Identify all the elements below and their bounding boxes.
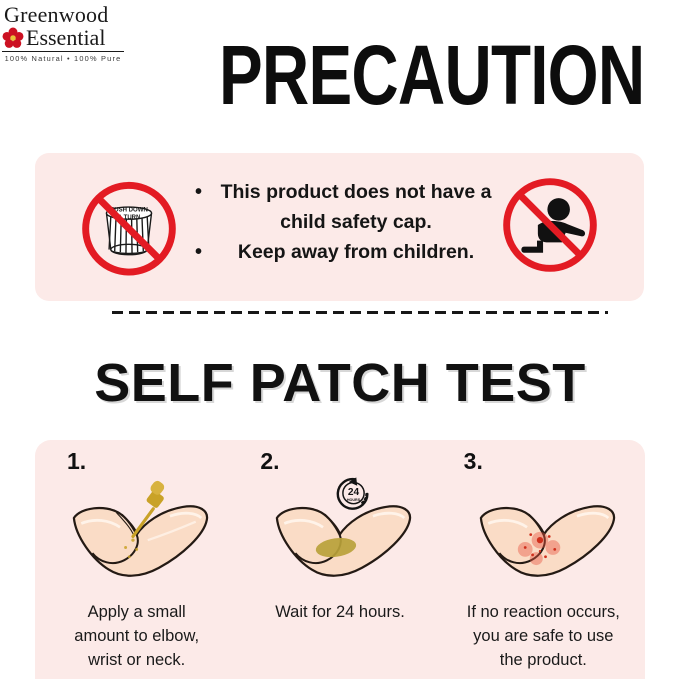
brand-logo: Greenwood Essential 100% Natural • 100% …: [2, 4, 126, 63]
patch-test-step: 2. 24 HOURS: [238, 440, 441, 679]
step-caption: Wait for 24 hours.: [238, 600, 441, 624]
brand-tagline: 100% Natural • 100% Pure: [2, 54, 124, 63]
page-title-self-patch-test: SELF PATCH TEST: [60, 352, 620, 414]
warning-panel: PUSH DOWN & TURN • This product does not…: [35, 153, 644, 301]
twentyfour-hours-badge: 24 HOURS: [338, 477, 368, 508]
self-patch-test-steps-panel: 1.: [35, 440, 645, 679]
no-children-icon: [498, 173, 602, 277]
warning-list-item: • This product does not have a child saf…: [195, 177, 495, 237]
brand-name-line1: Greenwood: [2, 4, 126, 26]
step-caption: If no reaction occurs, you are safe to u…: [442, 600, 645, 672]
no-child-safety-cap-icon: PUSH DOWN & TURN: [77, 175, 181, 279]
logo-divider: [2, 51, 124, 52]
page-title-precaution: PRECAUTION: [219, 37, 531, 114]
patch-test-step: 1.: [35, 440, 238, 679]
section-divider: [112, 311, 608, 314]
elbow-with-dropper-illustration: [35, 470, 238, 590]
brand-name-line2: Essential: [26, 27, 105, 49]
warning-text-list: • This product does not have a child saf…: [195, 177, 495, 268]
badge-number: 24: [348, 487, 360, 498]
warning-item-text: This product does not have a child safet…: [217, 177, 495, 237]
warning-item-text: Keep away from children.: [217, 237, 495, 267]
bullet-icon: •: [195, 177, 217, 207]
patch-test-step: 3.: [442, 440, 645, 679]
warning-list-item: • Keep away from children.: [195, 237, 495, 267]
elbow-with-rash-illustration: [442, 470, 645, 590]
elbow-with-24-hour-clock-illustration: 24 HOURS: [238, 470, 441, 590]
badge-unit: HOURS: [347, 498, 361, 502]
flower-icon: [2, 27, 24, 49]
bullet-icon: •: [195, 237, 217, 267]
step-caption: Apply a small amount to elbow, wrist or …: [35, 600, 238, 672]
